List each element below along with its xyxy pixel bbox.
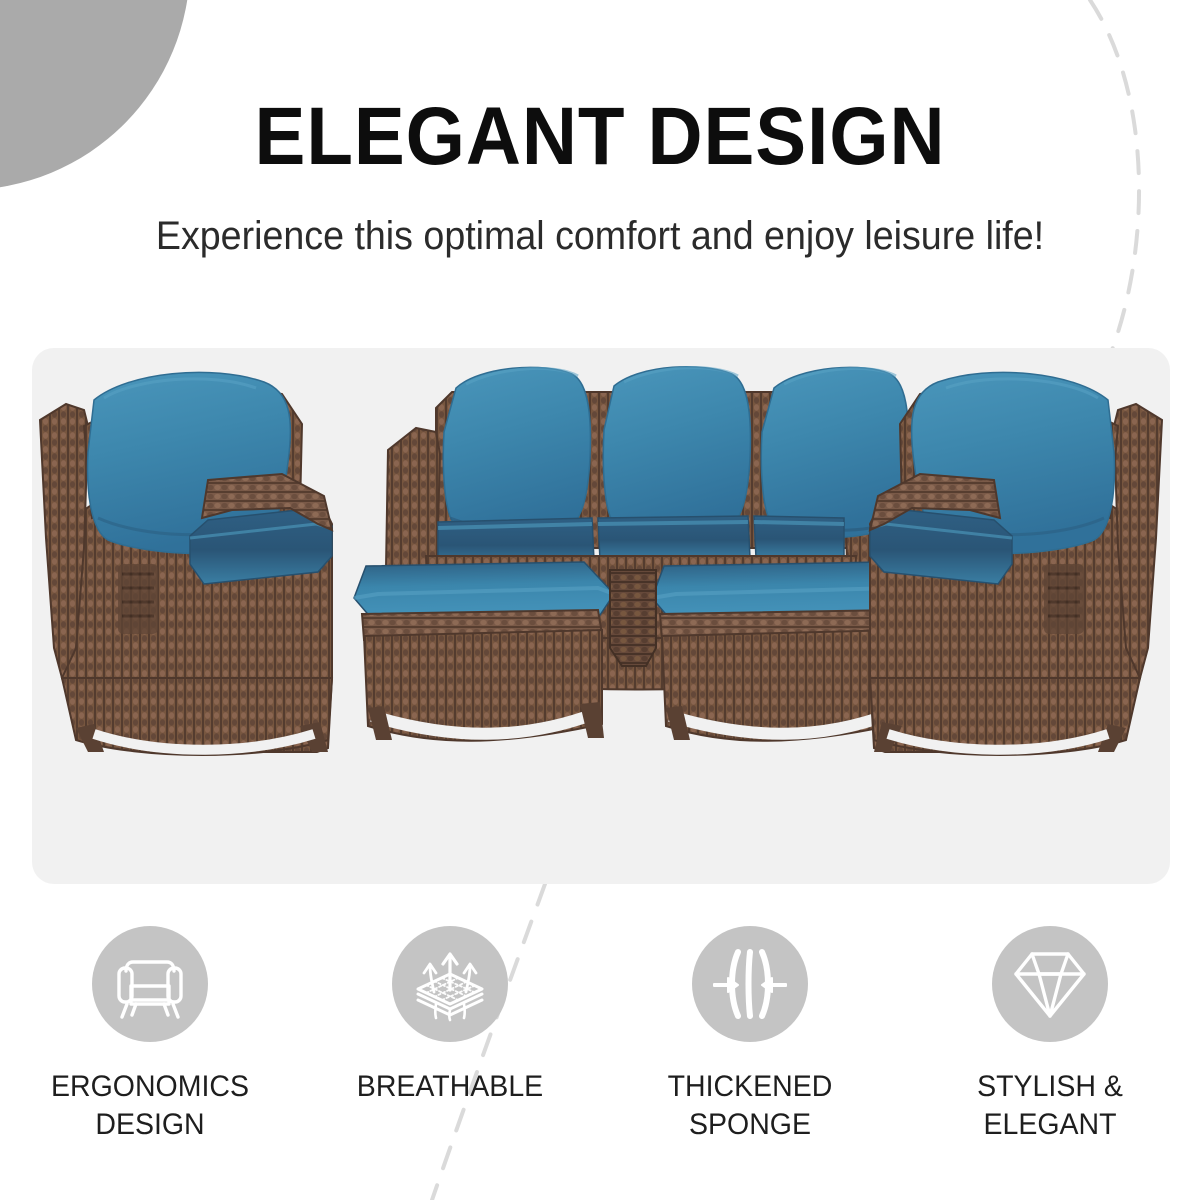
feature-ergonomics-design: ERGONOMICS DESIGN [20,926,280,1144]
patio-furniture-illustration [32,348,1170,884]
feature-icon-circle-1 [92,926,208,1042]
feature-label-3: THICKENED SPONGE [627,1068,874,1144]
feature-label-2: BREATHABLE [327,1068,574,1106]
feature-label-1-line1: ERGONOMICS [27,1068,274,1106]
page-subtitle: Experience this optimal comfort and enjo… [36,214,1164,259]
feature-stylish-elegant: STYLISH & ELEGANT [920,926,1180,1144]
right-armchair [870,372,1162,755]
feature-label-4: STYLISH & ELEGANT [927,1068,1174,1144]
left-armchair [40,372,332,755]
feature-row: ERGONOMICS DESIGN [0,926,1200,1144]
product-image-panel [32,348,1170,884]
header: ELEGANT DESIGN Experience this optimal c… [0,96,1200,259]
feature-icon-circle-4 [992,926,1108,1042]
feature-label-4-line2: ELEGANT [927,1106,1174,1144]
compression-arrows-icon [710,944,790,1024]
page-title: ELEGANT DESIGN [42,96,1158,178]
feature-label-1-line2: DESIGN [27,1106,274,1144]
feature-label-2-line1: BREATHABLE [327,1068,574,1106]
feature-icon-circle-3 [692,926,808,1042]
breathable-mesh-icon [410,944,490,1024]
feature-label-1: ERGONOMICS DESIGN [27,1068,274,1144]
feature-breathable: BREATHABLE [320,926,580,1106]
feature-icon-circle-2 [392,926,508,1042]
armchair-icon [111,945,189,1023]
feature-label-4-line1: STYLISH & [927,1068,1174,1106]
feature-thickened-sponge: THICKENED SPONGE [620,926,880,1144]
feature-label-3-line1: THICKENED [627,1068,874,1106]
left-ottoman [354,562,614,741]
feature-label-3-line2: SPONGE [627,1106,874,1144]
sofa-back-cushions [443,367,908,538]
diamond-icon [1010,944,1090,1024]
